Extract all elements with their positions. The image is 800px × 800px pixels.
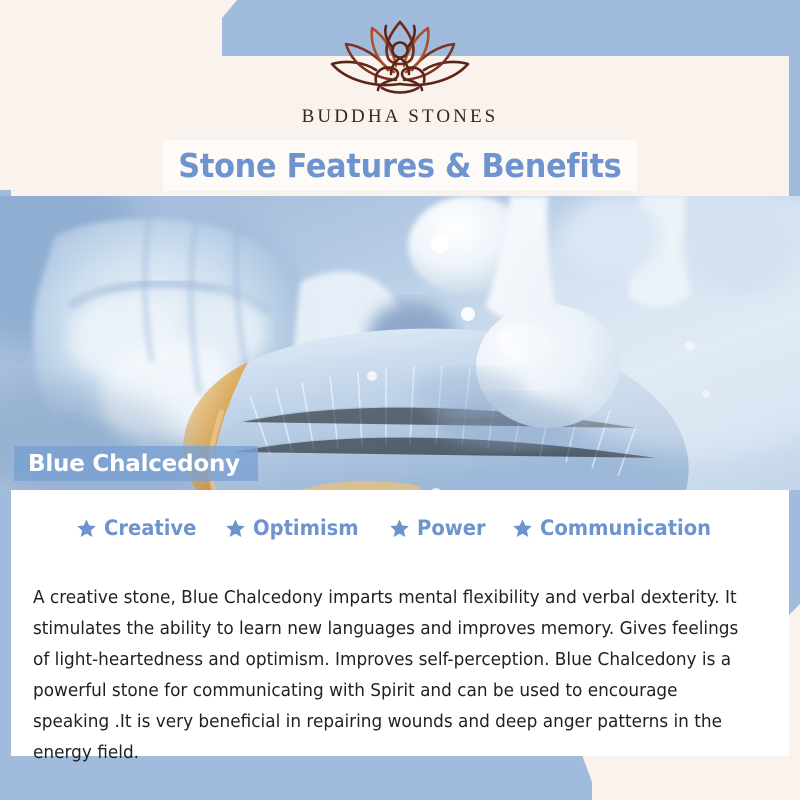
stone-name-banner: Blue Chalcedony — [14, 446, 258, 481]
feature-label: Optimism — [253, 516, 359, 540]
feature-item-communication: Communication — [512, 516, 724, 540]
card-header: BUDDHA STONES Stone Features & Benefits — [0, 0, 800, 196]
stone-name: Blue Chalcedony — [28, 451, 240, 477]
feature-label: Creative — [104, 516, 196, 540]
brand-wordmark: BUDDHA STONES — [0, 106, 800, 128]
star-icon — [225, 518, 246, 539]
product-info-card: BUDDHA STONES Stone Features & Benefits — [0, 0, 800, 800]
feature-item-optimism: Optimism — [225, 516, 367, 540]
feature-label: Power — [417, 516, 486, 540]
feature-label: Communication — [540, 516, 711, 540]
star-icon — [76, 518, 97, 539]
lotus-meditation-figure-icon — [316, 14, 484, 100]
feature-item-power: Power — [389, 516, 491, 540]
stone-photo: Blue Chalcedony — [0, 196, 800, 490]
feature-item-creative: Creative — [76, 516, 203, 540]
brand-logo: BUDDHA STONES — [0, 14, 800, 128]
star-icon — [512, 518, 533, 539]
page-title: Stone Features & Benefits — [178, 146, 621, 185]
title-plaque: Stone Features & Benefits — [163, 140, 637, 191]
star-icon — [389, 518, 410, 539]
feature-list: Creative Optimism Power Communication — [11, 516, 789, 540]
stone-description: A creative stone, Blue Chalcedony impart… — [33, 583, 743, 769]
